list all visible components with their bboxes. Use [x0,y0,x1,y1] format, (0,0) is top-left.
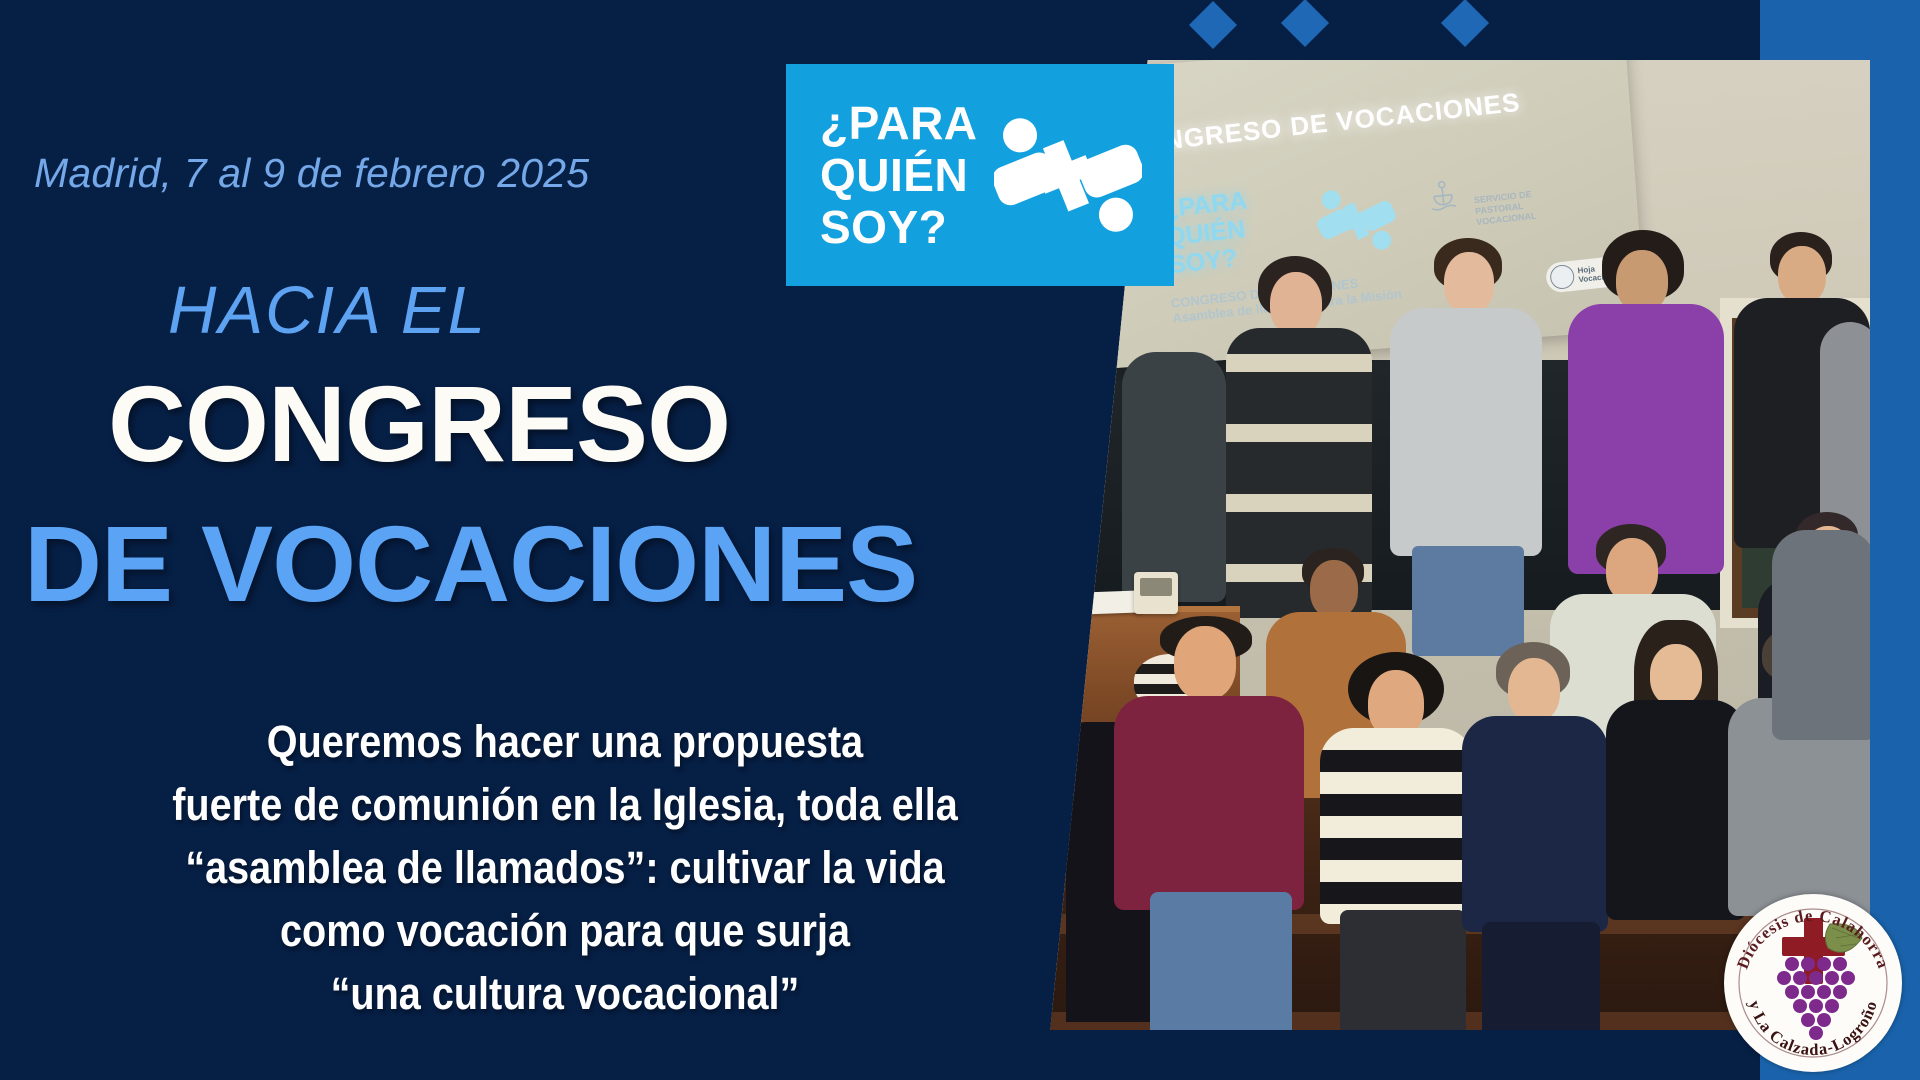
screen-title: CONGRESO DE VOCACIONES [1122,87,1522,161]
diamond-decoration [1441,0,1489,47]
campaign-logo-box: ¿PARA QUIÉN SOY? [786,64,1174,286]
description-line: “asamblea de llamados”: cultivar la vida [121,836,1010,899]
event-date: Madrid, 7 al 9 de febrero 2025 [34,150,589,197]
poster-canvas: CONGRESO DE VOCACIONES ¿PARA QUIÉN SOY? [0,0,1920,1080]
vocations-figures-cross-mark-icon [1309,172,1404,269]
title-line-1: CONGRESO [108,370,730,478]
campaign-slogan-line3: SOY? [820,201,978,253]
diamond-decoration [1189,1,1237,49]
papers [1050,590,1143,615]
campaign-slogan: ¿PARA QUIÉN SOY? [786,97,978,253]
description-line: fuerte de comunión en la Iglesia, toda e… [121,773,1010,836]
description-line: “una cultura vocacional” [121,962,1010,1025]
vocations-figures-cross-mark-icon [994,99,1142,251]
description-paragraph: Queremos hacer una propuesta fuerte de c… [121,710,1010,1025]
screen-claim: ¿PARA QUIÉN SOY? [1162,187,1255,280]
anchor-icon [1426,178,1459,213]
desk-phone [1134,572,1178,614]
description-line: como vocación para que surja [121,899,1010,962]
diocese-seal: Diócesis de Calahorra y La Calzada-Logro… [1724,894,1902,1072]
description-line: Queremos hacer una propuesta [121,710,1010,773]
badge-avatar-icon [1549,264,1575,290]
pretitle: HACIA EL [168,272,487,349]
campaign-slogan-line2: QUIÉN [820,149,978,201]
campaign-slogan-line1: ¿PARA [820,97,978,149]
screen-org: SERVICIO DE PASTORAL VOCACIONAL [1473,183,1586,228]
title-line-2: DE VOCACIONES [24,510,917,618]
diamond-decoration [1281,0,1329,47]
